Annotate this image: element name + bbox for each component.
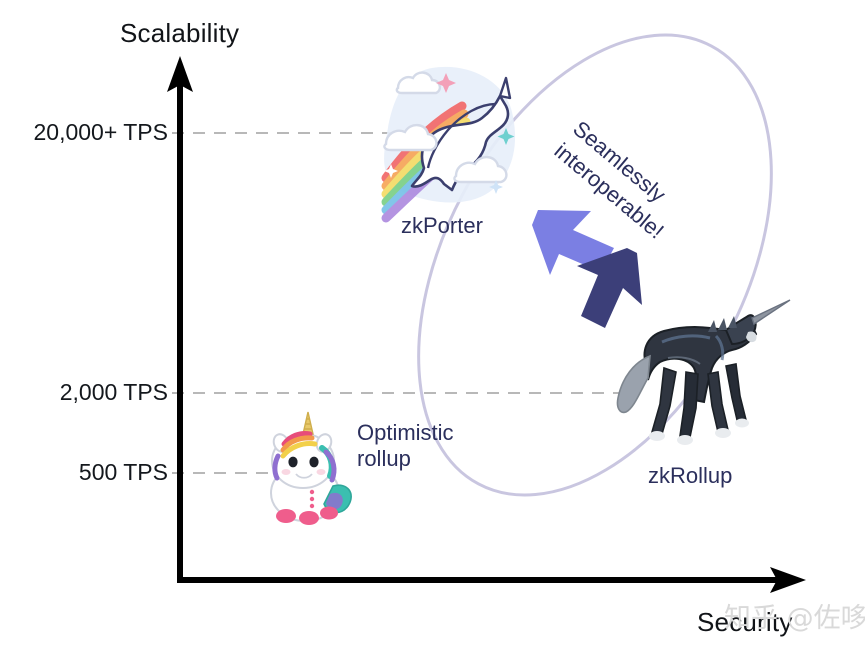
- y-tick-label-20000: 20,000+ TPS: [8, 119, 168, 146]
- y-axis-label: Scalability: [120, 18, 239, 49]
- y-tick-label-500: 500 TPS: [8, 459, 168, 486]
- node-label-optimistic-rollup: Optimistic rollup: [357, 420, 477, 472]
- diagram-vector-layer: [0, 0, 865, 653]
- node-label-zkrollup: zkRollup: [648, 463, 732, 489]
- baby-unicorn-icon: [271, 412, 351, 525]
- node-label-zkporter: zkPorter: [401, 213, 483, 239]
- robot-unicorn-icon: [617, 300, 790, 445]
- rainbow-unicorn-icon: [384, 67, 515, 218]
- diagram-canvas: Scalability Security 20,000+ TPS 2,000 T…: [0, 0, 865, 653]
- watermark-text: 知乎 @佐哆: [724, 596, 865, 635]
- y-tick-label-2000: 2,000 TPS: [8, 379, 168, 406]
